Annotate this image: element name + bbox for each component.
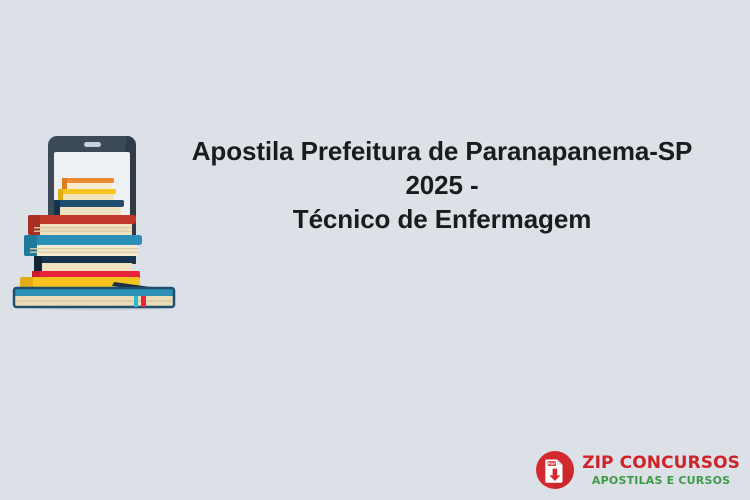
page-title: Apostila Prefeitura de Paranapanema-SP 2…: [172, 134, 712, 236]
brand-logo[interactable]: PDF ZIP CONCURSOS APOSTILAS E CURSOS: [535, 448, 740, 492]
poster-canvas: Apostila Prefeitura de Paranapanema-SP 2…: [0, 0, 750, 500]
books-illustration-svg: [8, 130, 188, 315]
bookmark-red: [141, 296, 146, 307]
svg-text:PDF: PDF: [548, 462, 557, 466]
books-illustration: [8, 130, 188, 315]
book-group-middle: [24, 215, 142, 283]
page-title-line-1: Apostila Prefeitura de Paranapanema-SP 2…: [172, 134, 712, 202]
brand-name: ZIP CONCURSOS: [582, 455, 740, 472]
brand-tagline: APOSTILAS E CURSOS: [582, 475, 740, 486]
book-base: [14, 288, 174, 307]
page-title-line-2: Técnico de Enfermagem: [172, 202, 712, 236]
bookmark-cyan: [134, 296, 138, 307]
brand-logo-text: ZIP CONCURSOS APOSTILAS E CURSOS: [582, 455, 740, 486]
pdf-download-icon: PDF: [535, 450, 575, 490]
